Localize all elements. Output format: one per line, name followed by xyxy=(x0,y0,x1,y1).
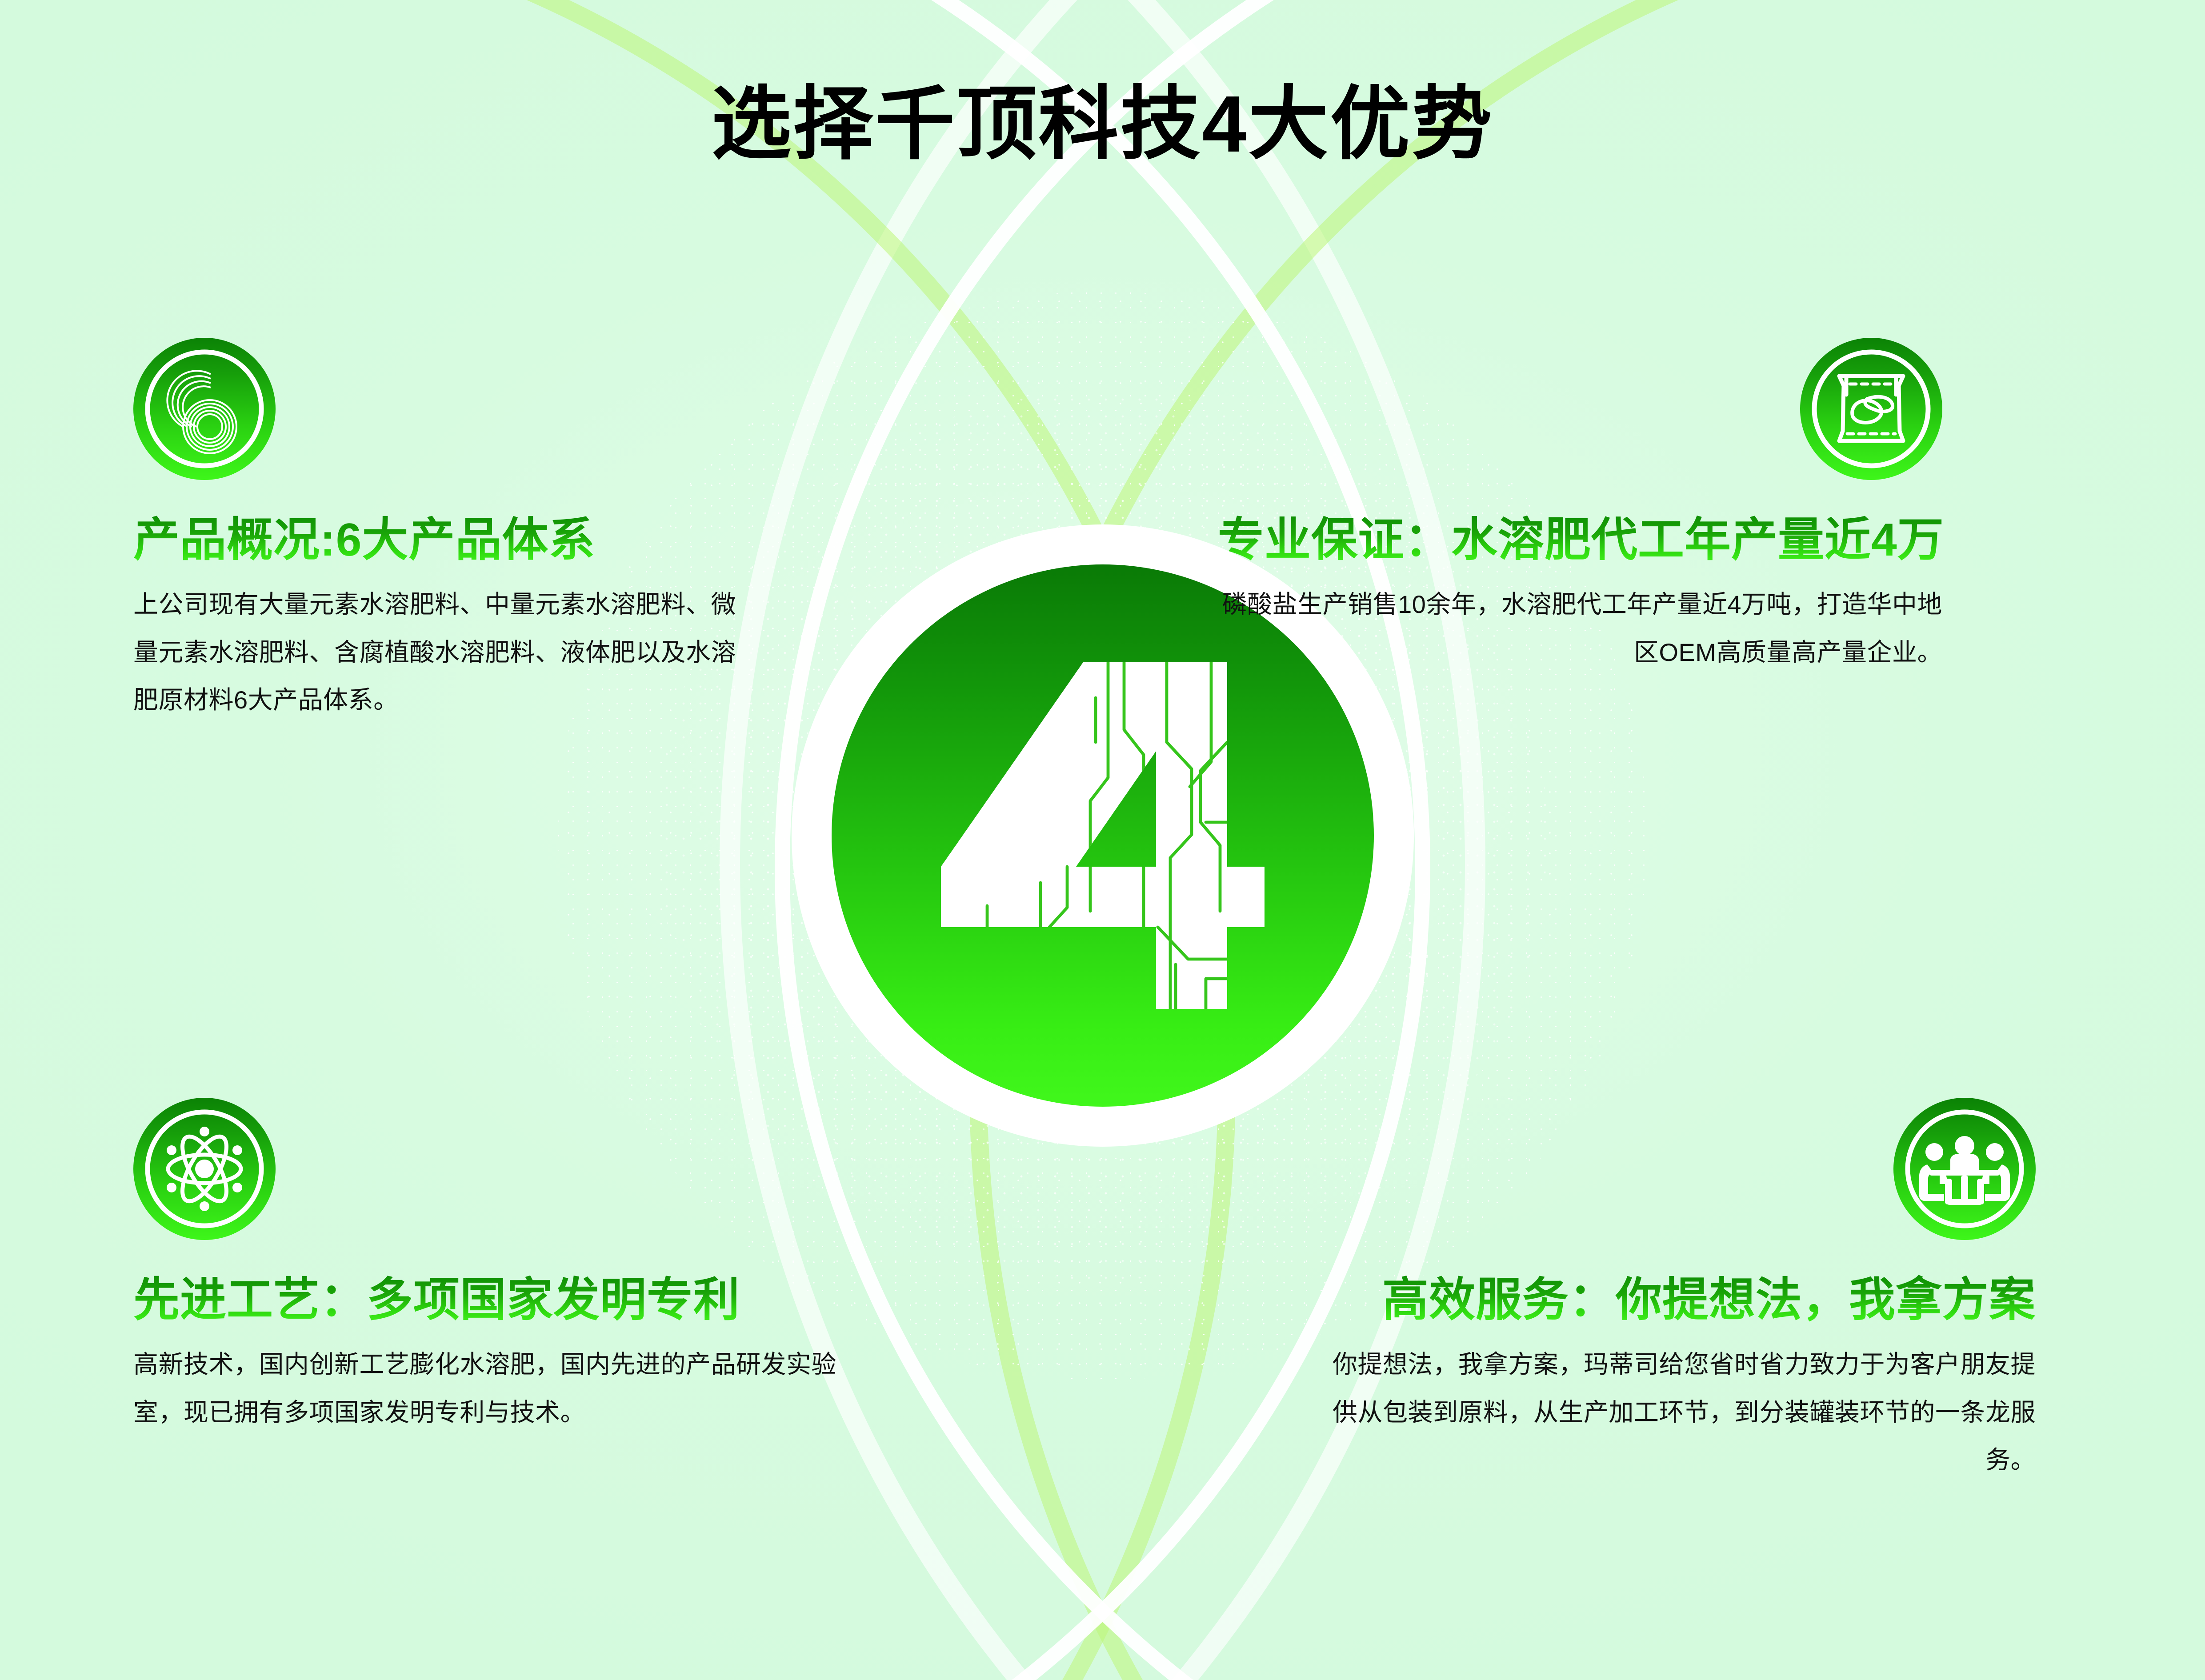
infographic-canvas: 选择千顶科技4大优势 xyxy=(0,0,2205,1680)
fertilizer-bag-icon xyxy=(1800,338,1942,480)
advantage-heading-bottom-left: 先进工艺：多项国家发明专利 xyxy=(133,1275,871,1325)
advantage-heading-top-left: 产品概况:6大产品体系 xyxy=(133,515,742,565)
meeting-people-icon xyxy=(1893,1098,2036,1240)
advantage-card-top-right: 专业保证：水溶肥代工年产量近4万吨 磷酸盐生产销售10余年，水溶肥代工年产量近4… xyxy=(1218,338,1942,676)
advantage-body-bottom-right: 你提想法，我拿方案，玛蒂司给您省时省力致力于为客户朋友提供从包装到原料，从生产加… xyxy=(1316,1340,2036,1484)
number-six-icon xyxy=(133,338,276,480)
advantage-body-bottom-left: 高新技术，国内创新工艺膨化水溶肥，国内先进的产品研发实验室，现已拥有多项国家发明… xyxy=(133,1340,871,1436)
page-title: 选择千顶科技4大优势 xyxy=(0,84,2205,164)
advantage-body-top-left: 上公司现有大量元素水溶肥料、中量元素水溶肥料、微量元素水溶肥料、含腐植酸水溶肥料… xyxy=(133,580,742,724)
advantage-card-bottom-right: 高效服务：你提想法，我拿方案 你提想法，我拿方案，玛蒂司给您省时省力致力于为客户… xyxy=(1316,1098,2036,1484)
advantage-heading-bottom-right: 高效服务：你提想法，我拿方案 xyxy=(1316,1275,2036,1325)
advantage-body-top-right: 磷酸盐生产销售10余年，水溶肥代工年产量近4万吨，打造华中地区OEM高质量高产量… xyxy=(1218,580,1942,676)
advantage-heading-top-right: 专业保证：水溶肥代工年产量近4万吨 xyxy=(1218,515,1942,565)
advantage-card-bottom-left: 先进工艺：多项国家发明专利 高新技术，国内创新工艺膨化水溶肥，国内先进的产品研发… xyxy=(133,1098,871,1436)
atom-icon xyxy=(133,1098,276,1240)
center-number-four-icon xyxy=(934,644,1272,1027)
advantage-card-top-left: 产品概况:6大产品体系 上公司现有大量元素水溶肥料、中量元素水溶肥料、微量元素水… xyxy=(133,338,742,724)
